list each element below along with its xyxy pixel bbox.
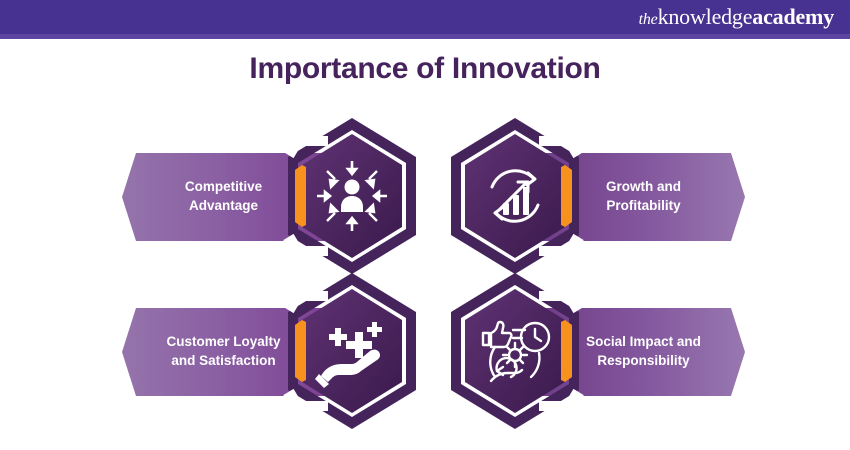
header-bar: theknowledgeacademy: [0, 0, 850, 34]
label-line-1: Customer Loyalty: [166, 334, 280, 349]
hexagon-competitive-advantage[interactable]: [282, 116, 422, 276]
banner-label: Customer Loyalty and Satisfaction: [166, 333, 280, 370]
hexagon-social-impact[interactable]: [445, 271, 585, 431]
label-line-1: Growth and: [606, 179, 681, 194]
node-growth-profitability[interactable]: Growth and Profitability: [420, 116, 750, 276]
node-social-impact-responsibility[interactable]: Social Impact and Responsibility: [420, 271, 750, 431]
hexagon-growth-profitability[interactable]: [445, 116, 585, 276]
banner-label: Social Impact and Responsibility: [586, 333, 701, 370]
icon-target-person-converging-arrows: [282, 116, 422, 276]
icon-thumbs-up-clock-gear-hand: [445, 271, 585, 431]
diagram-container: Competitive Advantage: [0, 108, 850, 428]
label-line-2: Profitability: [606, 198, 680, 213]
label-line-1: Competitive: [185, 179, 262, 194]
brand-knowledge: knowledge: [658, 4, 753, 29]
node-competitive-advantage[interactable]: Competitive Advantage: [117, 116, 447, 276]
hexagon-customer-loyalty[interactable]: [282, 271, 422, 431]
header-accent-stripe: [0, 34, 850, 39]
label-line-2: Responsibility: [597, 353, 689, 368]
brand-logo[interactable]: theknowledgeacademy: [639, 6, 834, 28]
brand-academy: academy: [752, 4, 834, 29]
icon-bar-chart-growth-cycle: [445, 116, 585, 276]
brand-the: the: [639, 11, 658, 28]
banner-label: Competitive Advantage: [185, 178, 262, 215]
node-customer-loyalty-satisfaction[interactable]: Customer Loyalty and Satisfaction: [117, 271, 447, 431]
label-line-1: Social Impact and: [586, 334, 701, 349]
page-title: Importance of Innovation: [0, 52, 850, 86]
icon-hand-sparkle-plus: [282, 271, 422, 431]
label-line-2: Advantage: [189, 198, 258, 213]
infographic-page: theknowledgeacademy Importance of Innova…: [0, 0, 850, 450]
banner-label: Growth and Profitability: [606, 178, 681, 215]
label-line-2: and Satisfaction: [171, 353, 275, 368]
